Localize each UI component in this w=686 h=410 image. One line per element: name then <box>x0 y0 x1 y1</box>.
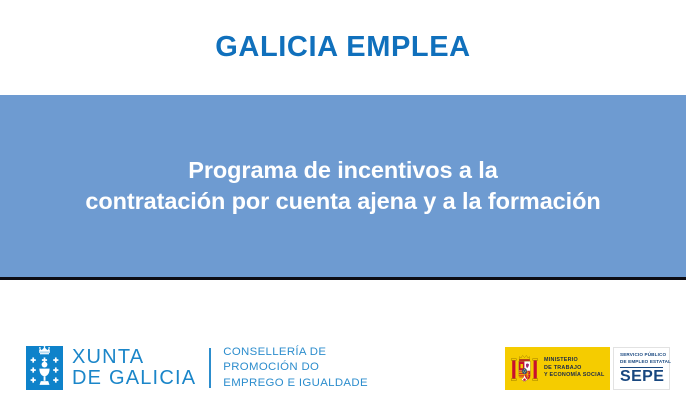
ministerio-wordmark: MINISTERIO DE TRABAJO Y ECONOMÍA SOCIAL <box>544 357 605 380</box>
ministerio-de-trabajo-logo: MINISTERIO DE TRABAJO Y ECONOMÍA SOCIAL <box>505 347 610 390</box>
conselleria-line-2: PROMOCIÓN DO <box>223 360 368 375</box>
sepe-subtitle-line-2: DE EMPLEO ESTATAL <box>620 359 671 366</box>
galicia-chalice-crown-emblem-icon <box>26 346 63 390</box>
sepe-logo: SERVICIO PÚBLICO DE EMPLEO ESTATAL SEPE <box>613 347 670 390</box>
sepe-subtitle: SERVICIO PÚBLICO DE EMPLEO ESTATAL <box>620 352 671 365</box>
page-title: GALICIA EMPLEA <box>215 31 470 64</box>
conselleria-line-3: EMPREGO E IGUALDADE <box>223 376 368 391</box>
program-banner: Programa de incentivos a la contratación… <box>0 95 686 280</box>
ministerio-line-3: Y ECONOMÍA SOCIAL <box>544 372 605 380</box>
footer-logo-bar: XUNTA DE GALICIA CONSELLERÍA DE PROMOCIÓ… <box>0 283 686 410</box>
logo-divider <box>209 348 211 388</box>
xunta-wordmark-line-2: DE GALICIA <box>72 368 196 389</box>
ministerio-line-1: MINISTERIO <box>544 357 605 365</box>
conselleria-line-1: CONSELLERÍA DE <box>223 345 368 360</box>
xunta-wordmark-line-1: XUNTA <box>72 347 196 368</box>
spain-coat-of-arms-icon <box>511 352 538 386</box>
slide-canvas: GALICIA EMPLEA Programa de incentivos a … <box>0 0 686 410</box>
sepe-subtitle-line-1: SERVICIO PÚBLICO <box>620 352 671 359</box>
banner-line-2: contratación por cuenta ajena y a la for… <box>14 186 672 217</box>
banner-text: Programa de incentivos a la contratación… <box>0 155 686 218</box>
sepe-wordmark: SEPE <box>620 369 664 385</box>
xunta-wordmark: XUNTA DE GALICIA <box>72 347 196 389</box>
banner-line-1: Programa de incentivos a la <box>14 155 672 186</box>
conselleria-wordmark: CONSELLERÍA DE PROMOCIÓN DO EMPREGO E IG… <box>223 345 368 391</box>
xunta-de-galicia-logo: XUNTA DE GALICIA CONSELLERÍA DE PROMOCIÓ… <box>26 345 368 391</box>
title-area: GALICIA EMPLEA <box>0 0 686 95</box>
